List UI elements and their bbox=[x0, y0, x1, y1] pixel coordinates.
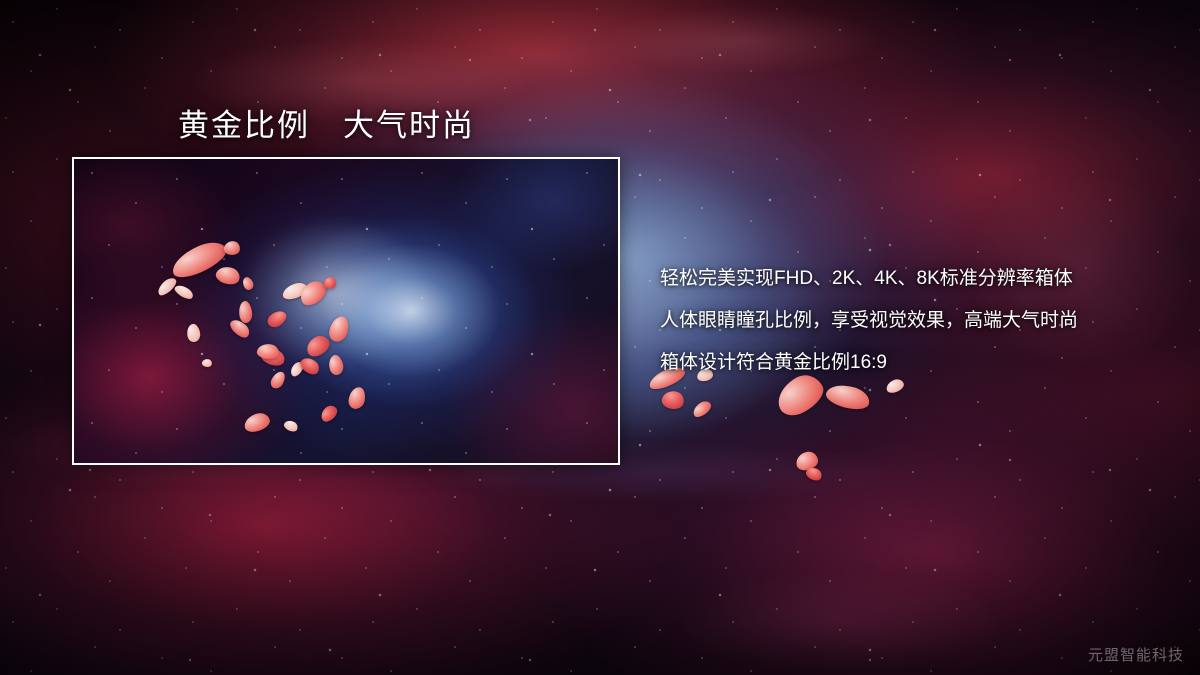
petal bbox=[824, 380, 872, 413]
body-line-1: 轻松完美实现FHD、2K、4K、8K标准分辨率箱体 bbox=[660, 258, 1160, 300]
body-line-3: 箱体设计符合黄金比例16:9 bbox=[660, 342, 1160, 384]
body-text-block: 轻松完美实现FHD、2K、4K、8K标准分辨率箱体 人体眼睛瞳孔比例，享受视觉效… bbox=[660, 258, 1160, 384]
watermark: 元盟智能科技 bbox=[1088, 644, 1184, 665]
petal bbox=[660, 389, 686, 412]
framed-image-panel bbox=[72, 157, 620, 465]
petal bbox=[324, 277, 336, 289]
presentation-slide: 黄金比例 大气时尚 bbox=[0, 0, 1200, 675]
slide-title: 黄金比例 大气时尚 bbox=[178, 100, 475, 145]
body-line-2: 人体眼睛瞳孔比例，享受视觉效果，高端大气时尚 bbox=[660, 300, 1160, 342]
petal bbox=[690, 398, 713, 419]
